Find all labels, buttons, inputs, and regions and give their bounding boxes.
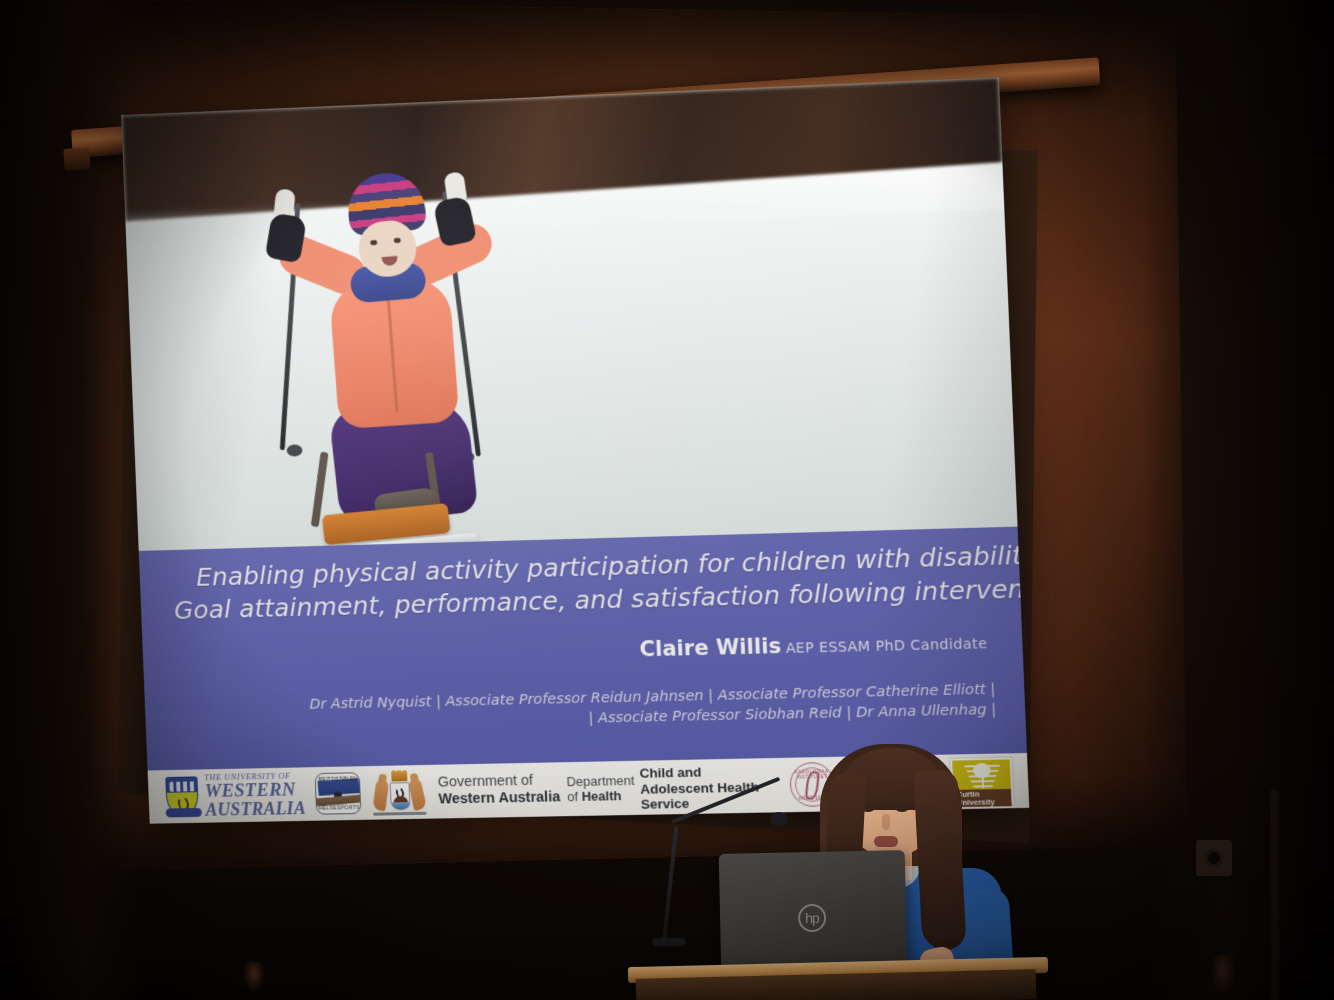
ski-pole-basket-left — [286, 444, 302, 456]
coat-of-arms-base — [373, 812, 426, 816]
crown-icon — [391, 771, 407, 781]
screen-roller-end-cap — [63, 147, 90, 171]
child-eye-left — [370, 240, 377, 246]
logo-uwa: THE UNIVERSITY OF WESTERN AUSTRALIA — [165, 769, 306, 821]
logo-beitostolen: BEITOSTØLEN HELSESPORTSENTER — [314, 768, 361, 818]
presenter-mouth — [874, 836, 898, 847]
wa-coat-of-arms-icon — [367, 769, 430, 816]
uwa-wordmark: THE UNIVERSITY OF WESTERN AUSTRALIA — [204, 772, 306, 819]
slide-photo-sit-skier — [121, 77, 1017, 551]
wall-conduit — [1270, 790, 1280, 1000]
gov-line-2: Department of Health — [566, 772, 641, 804]
beitostolen-arc-top: BEITOSTØLEN — [318, 776, 358, 785]
slide-title-band: Enabling physical activity participation… — [139, 527, 1027, 771]
gov-line-1: Government of Western Australia — [438, 772, 568, 809]
sit-ski-child — [251, 150, 533, 537]
coat-of-arms-shield — [389, 782, 410, 810]
presentation-room-photo: Enabling physical activity participation… — [0, 0, 1334, 1000]
wall-power-socket-icon — [1196, 840, 1232, 876]
beitostolen-arc-bottom: HELSESPORTSENTER — [319, 805, 361, 814]
presenter-hair-right — [913, 769, 966, 951]
gov-line-1-bold: Western Australia — [438, 789, 560, 807]
logo-gov-wa-health: Government of Western Australia Departme… — [437, 760, 778, 816]
child-mouth — [382, 256, 399, 266]
gov-line-2-bold: Health — [581, 788, 621, 804]
microphone-base — [652, 938, 686, 946]
hp-logo-icon — [798, 904, 827, 933]
kangaroo-supporter-left — [372, 779, 389, 811]
floor-light-right — [1210, 955, 1236, 995]
beitostolen-emblem-icon: BEITOSTØLEN HELSESPORTSENTER — [314, 772, 361, 815]
kangaroo-supporter-right — [408, 778, 427, 811]
microphone-icon — [770, 812, 788, 826]
presenter-byline: Claire Willis AEP ESSAM PhD Candidate — [639, 629, 988, 661]
projected-slide: Enabling physical activity participation… — [121, 77, 1029, 823]
gov-line-1-prefix: Government of — [438, 773, 534, 791]
shield-water — [391, 802, 410, 809]
floor-light-left — [243, 962, 265, 992]
coauthor-list: Dr Astrid Nyquist | Associate Professor … — [145, 680, 997, 738]
uwa-line-3: AUSTRALIA — [205, 799, 306, 819]
hp-laptop — [719, 850, 908, 976]
uwa-ribbon — [166, 808, 202, 818]
presenter-name: Claire Willis — [639, 634, 781, 661]
presenter-nose — [882, 814, 890, 830]
child-eye-right — [394, 238, 401, 244]
logo-wa-coat-of-arms — [359, 767, 430, 818]
room-right-shadow — [1144, 0, 1334, 1000]
uwa-crest-icon — [165, 776, 199, 816]
slide-canvas: Enabling physical activity participation… — [121, 77, 1029, 823]
presenter-credentials: AEP ESSAM PhD Candidate — [785, 636, 987, 657]
